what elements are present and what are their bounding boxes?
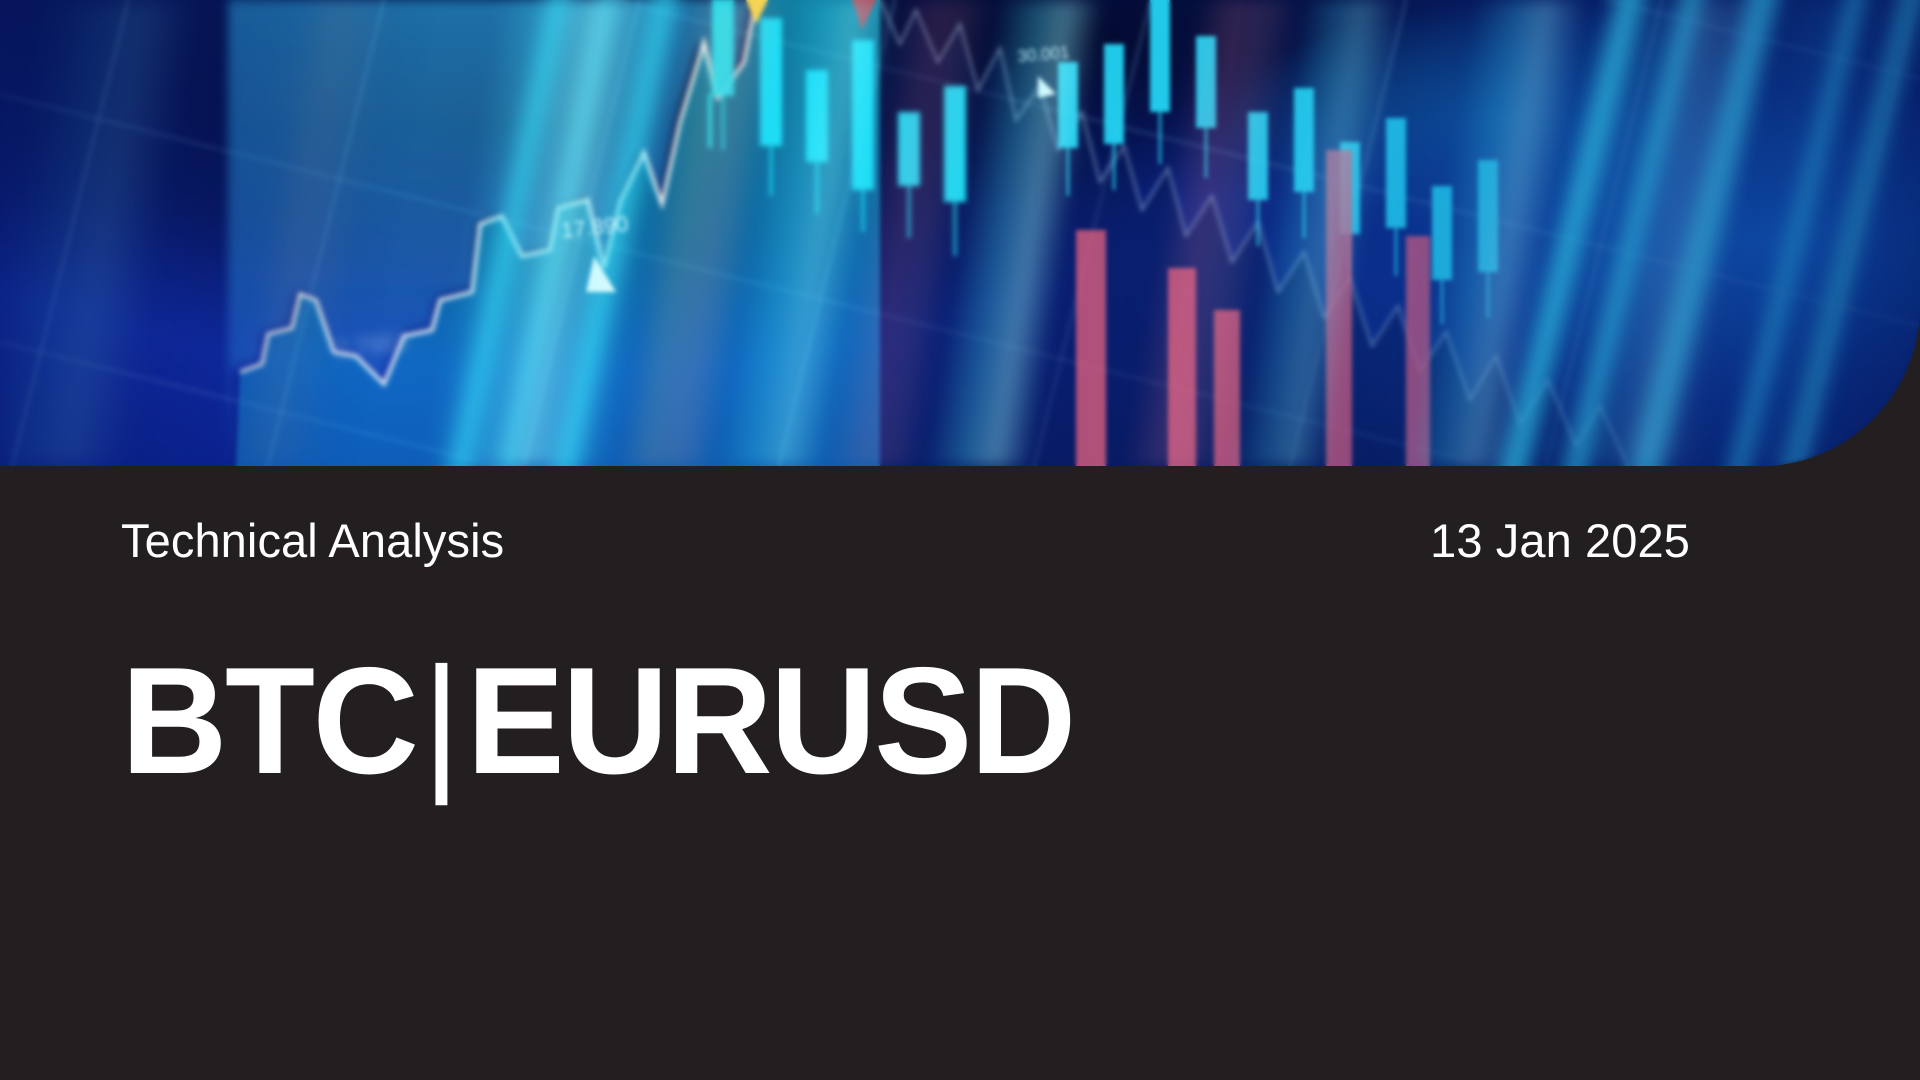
page-root: 30.001 17.890 0.7953 Technical Analysis … bbox=[0, 0, 1920, 1080]
article-kicker: Technical Analysis bbox=[121, 517, 504, 564]
page-title-first-symbol: BTC bbox=[121, 636, 416, 806]
hero-depth-of-field-left bbox=[0, 0, 1920, 466]
page-title-separator: | bbox=[416, 636, 466, 806]
article-date: 13 Jan 2025 bbox=[1430, 517, 1690, 564]
page-title: BTC|EURUSD bbox=[121, 645, 1074, 797]
article-meta-row: Technical Analysis 13 Jan 2025 bbox=[121, 517, 1690, 564]
page-title-second-symbol: EURUSD bbox=[466, 636, 1073, 806]
hero-image: 30.001 17.890 0.7953 bbox=[0, 0, 1920, 466]
